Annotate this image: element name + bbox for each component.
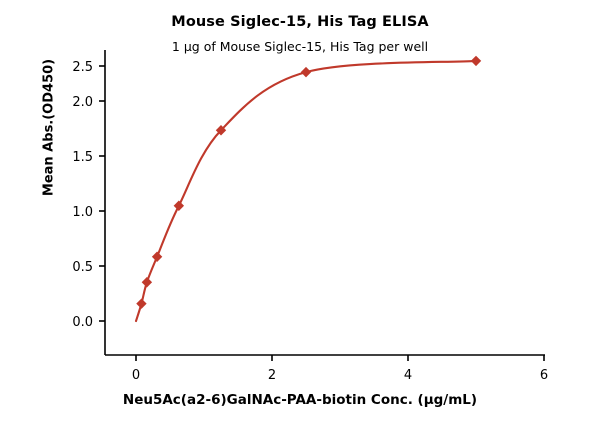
- y-tick-label: 0.0: [72, 315, 93, 330]
- data-point: [174, 201, 184, 211]
- y-tick-label: 1.0: [72, 205, 93, 220]
- chart-container: Mouse Siglec-15, His Tag ELISA 1 µg of M…: [0, 0, 600, 421]
- data-point: [142, 277, 152, 287]
- data-point: [152, 252, 162, 262]
- x-tick-label: 2: [268, 368, 276, 383]
- x-tick-label: 6: [540, 368, 548, 383]
- y-tick-label: 1.5: [72, 150, 93, 165]
- data-point: [471, 56, 481, 66]
- y-tick-label: 2.5: [72, 60, 93, 75]
- plot-area: 0.0 0.5 1.0 1.5 2.0 2.5 0 2 4 6: [0, 0, 600, 421]
- fit-curve: [136, 61, 476, 321]
- y-tick-label: 0.5: [72, 260, 93, 275]
- data-markers: [136, 56, 481, 309]
- data-point: [136, 298, 146, 308]
- x-axis-ticks: 0 2 4 6: [132, 355, 548, 383]
- x-tick-label: 0: [132, 368, 140, 383]
- x-tick-label: 4: [404, 368, 412, 383]
- data-point: [301, 67, 311, 77]
- y-tick-label: 2.0: [72, 95, 93, 110]
- y-axis-ticks: 0.0 0.5 1.0 1.5 2.0 2.5: [72, 60, 105, 330]
